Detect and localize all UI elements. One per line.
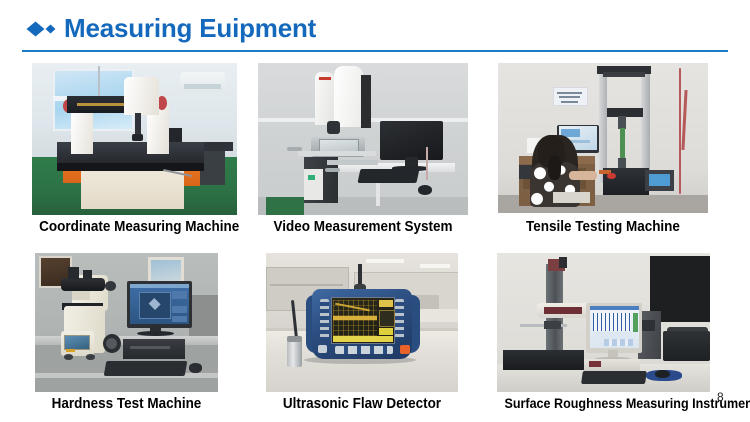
caption-video-measurement-system: Video Measurement System xyxy=(265,219,460,235)
gallery-item-hardness-test-machine[interactable]: Hardness Test Machine xyxy=(35,253,218,411)
gallery-item-tensile-testing-machine[interactable]: Tensile Testing Machine xyxy=(498,63,708,233)
caption-hardness-test-machine: Hardness Test Machine xyxy=(41,396,211,412)
photo-video-measurement-system xyxy=(258,63,468,215)
slide-header: Measuring Euipment xyxy=(0,0,750,56)
gallery-item-surface-roughness-measuring-instrument[interactable]: Surface Roughness Measuring Instrument xyxy=(497,253,710,411)
caption-ultrasonic-flaw-detector: Ultrasonic Flaw Detector xyxy=(273,396,452,412)
caption-surface-roughness-measuring-instrument: Surface Roughness Measuring Instrument xyxy=(504,396,702,411)
photo-coordinate-measuring-machine xyxy=(32,63,237,215)
photo-tensile-testing-machine xyxy=(498,63,708,213)
page-title: Measuring Euipment xyxy=(64,13,316,44)
slide: Measuring Euipment xyxy=(0,0,750,422)
caption-coordinate-measuring-machine: Coordinate Measuring Machine xyxy=(39,219,230,235)
gallery-item-coordinate-measuring-machine[interactable]: Coordinate Measuring Machine xyxy=(32,63,237,233)
photo-hardness-test-machine xyxy=(35,253,218,392)
page-number: 8 xyxy=(717,390,724,404)
gallery-item-video-measurement-system[interactable]: Video Measurement System xyxy=(258,63,468,233)
caption-tensile-testing-machine: Tensile Testing Machine xyxy=(505,219,700,235)
gallery-item-ultrasonic-flaw-detector[interactable]: Ultrasonic Flaw Detector xyxy=(266,253,458,411)
double-diamond-icon xyxy=(26,21,56,37)
photo-ultrasonic-flaw-detector xyxy=(266,253,458,392)
photo-surface-roughness-measuring-instrument xyxy=(497,253,710,392)
title-divider xyxy=(22,50,728,52)
